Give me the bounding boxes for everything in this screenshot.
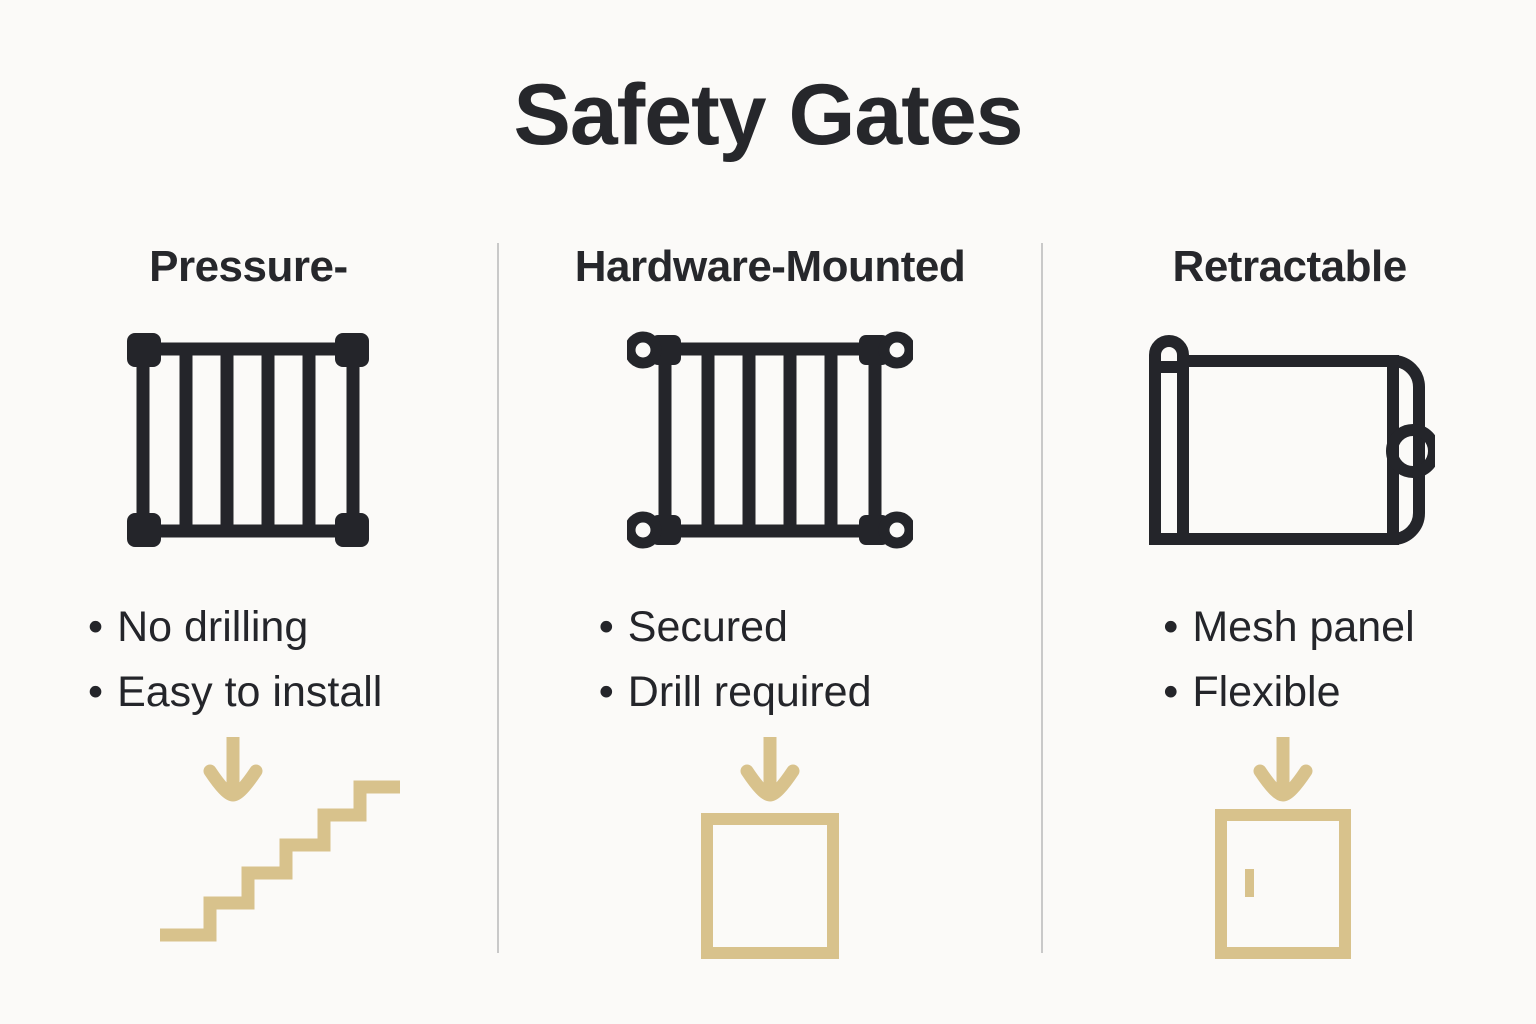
bullet-marker: • xyxy=(88,595,103,660)
list-item: • No drilling xyxy=(88,595,497,660)
door-shape xyxy=(1221,815,1345,953)
bullet-text: Mesh panel xyxy=(1192,595,1414,660)
bullet-text: Easy to install xyxy=(117,660,382,725)
mounting-bracket-ring xyxy=(630,337,910,543)
column-heading-hardware-mounted: Hardware-Mounted xyxy=(499,243,1042,291)
list-item: • Mesh panel xyxy=(1163,595,1536,660)
bullet-marker: • xyxy=(1163,595,1178,660)
bullet-marker: • xyxy=(599,660,614,725)
column-hardware-mounted: Hardware-Mounted xyxy=(499,235,1042,995)
bullet-text: Flexible xyxy=(1192,660,1340,725)
comparison-columns: Pressure- xyxy=(0,235,1536,995)
arrow-down-icon xyxy=(1260,737,1306,795)
safety-gates-infographic: Safety Gates Pressure- xyxy=(0,0,1536,1024)
stairs-shape xyxy=(160,787,400,935)
list-item: • Drill required xyxy=(599,660,1042,725)
list-item: • Flexible xyxy=(1163,660,1536,725)
bullet-list-retractable: • Mesh panel • Flexible xyxy=(1043,595,1536,724)
column-retractable: Retractable • Mesh panel xyxy=(1043,235,1536,995)
list-item: • Secured xyxy=(599,595,1042,660)
bullet-text: Secured xyxy=(628,595,788,660)
pressure-gate-icon xyxy=(123,329,373,551)
mesh-panel-body xyxy=(1183,361,1393,539)
hardware-mounted-gate-icon xyxy=(627,329,913,551)
door-with-arrow-icon xyxy=(1205,735,1375,961)
column-heading-pressure: Pressure- xyxy=(0,243,497,291)
column-heading-retractable: Retractable xyxy=(1043,243,1536,291)
arrow-down-icon xyxy=(747,737,793,795)
retractable-gate-icon-wrap xyxy=(1043,320,1536,560)
bullet-marker: • xyxy=(1163,660,1178,725)
arrow-down-icon xyxy=(210,737,256,795)
bullet-marker: • xyxy=(88,660,103,725)
stairs-icon-wrap xyxy=(0,735,533,965)
door-handle-icon xyxy=(1245,869,1254,897)
pressure-gate-icon-wrap xyxy=(0,320,497,560)
bullet-list-pressure: • No drilling • Easy to install xyxy=(0,595,497,724)
doorway-icon-wrap xyxy=(499,735,1042,965)
bullet-text: No drilling xyxy=(117,595,308,660)
doorway-shape xyxy=(707,819,833,953)
bullet-marker: • xyxy=(599,595,614,660)
page-title: Safety Gates xyxy=(0,72,1536,158)
retractable-gate-icon xyxy=(1145,331,1435,549)
bullet-text: Drill required xyxy=(628,660,872,725)
stairs-with-arrow-icon xyxy=(154,735,414,961)
bullet-list-hardware-mounted: • Secured • Drill required xyxy=(499,595,1042,724)
list-item: • Easy to install xyxy=(88,660,497,725)
doorway-with-arrow-icon xyxy=(685,735,855,961)
door-icon-wrap xyxy=(1043,735,1536,965)
column-pressure: Pressure- xyxy=(0,235,497,995)
hardware-mounted-gate-icon-wrap xyxy=(499,320,1042,560)
